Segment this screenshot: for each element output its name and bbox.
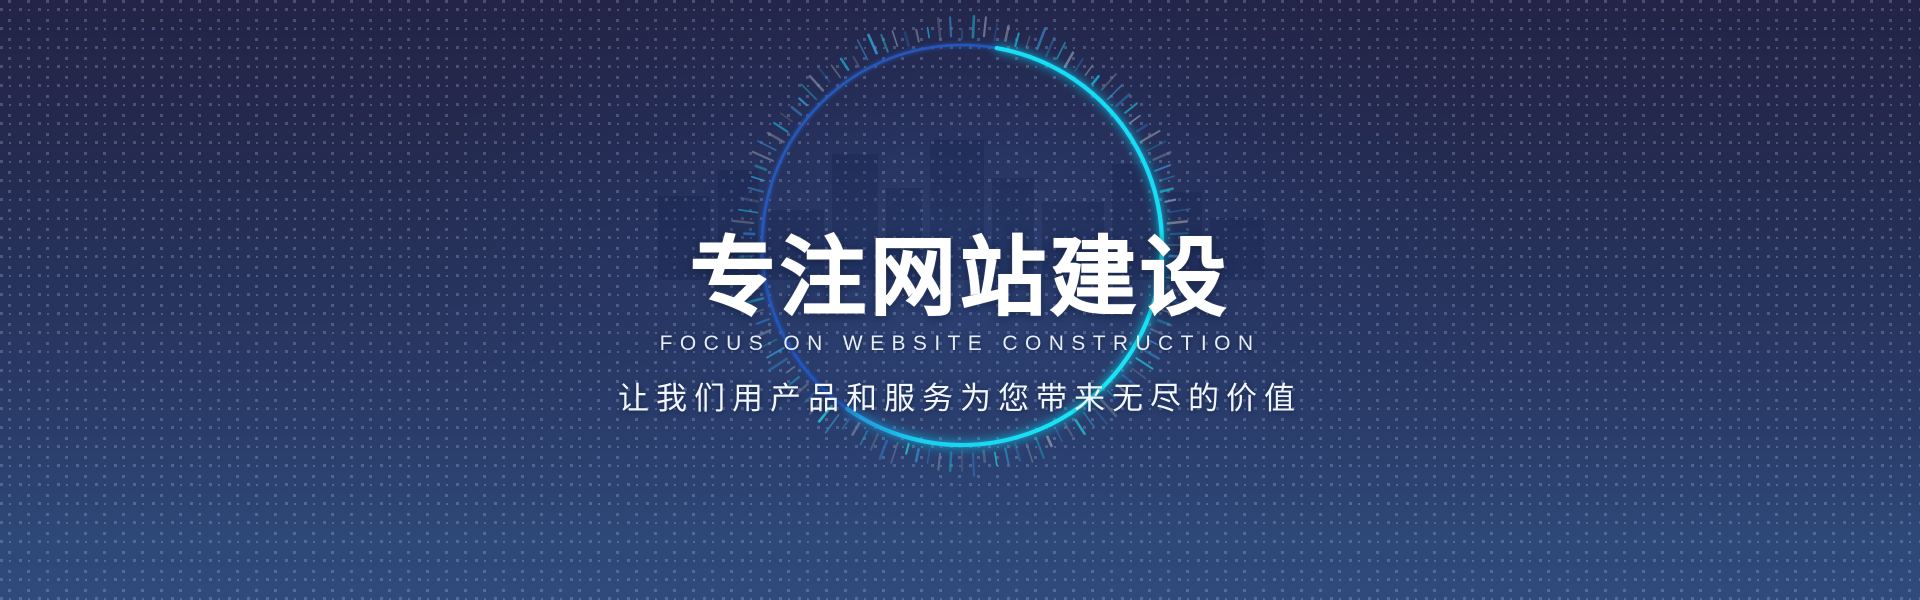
hero-banner: 专注网站建设 FOCUS ON WEBSITE CONSTRUCTION 让我们… <box>0 0 1920 600</box>
page-subtitle-english: FOCUS ON WEBSITE CONSTRUCTION <box>0 331 1920 357</box>
page-tagline: 让我们用产品和服务为您带来无尽的价值 <box>0 379 1920 419</box>
page-title: 专注网站建设 <box>0 232 1920 324</box>
